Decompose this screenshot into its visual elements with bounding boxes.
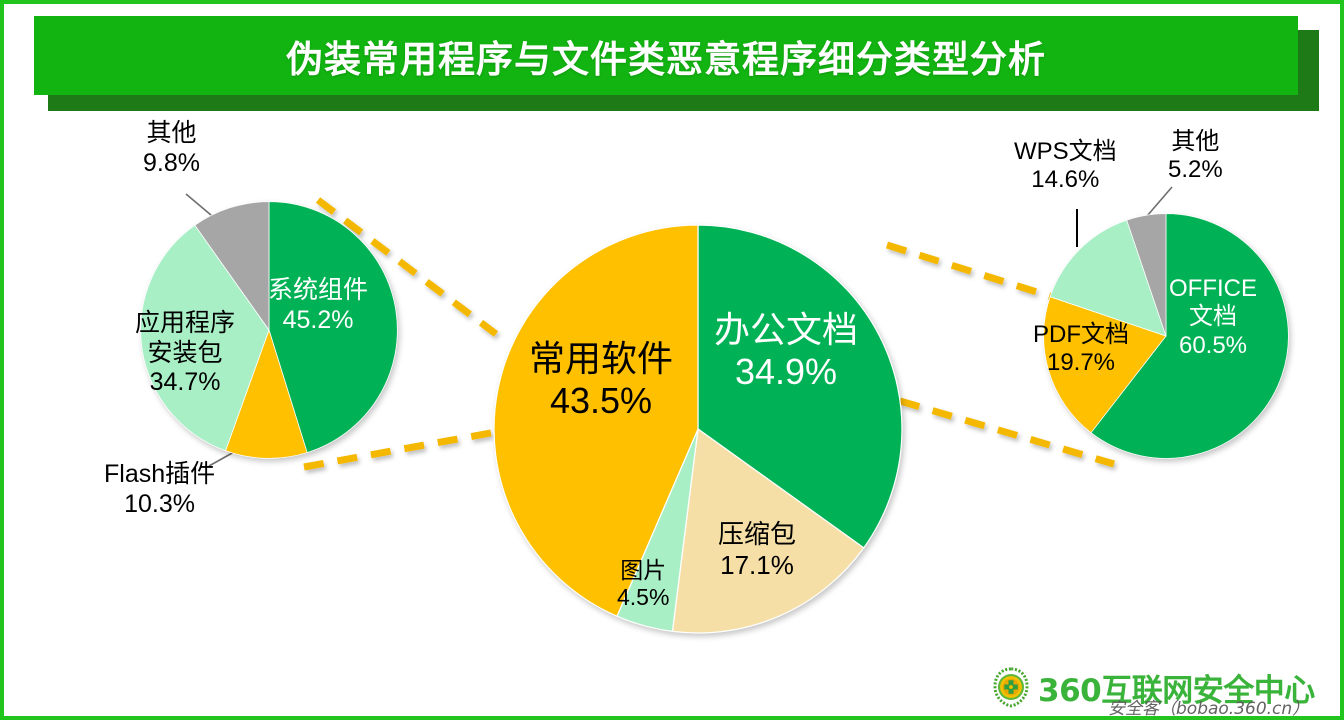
slice-value-office-doc: 34.9%	[714, 351, 858, 393]
leader-right-other	[1147, 187, 1172, 216]
slice-value-image: 4.5%	[617, 584, 669, 611]
title-banner-main: 伪装常用程序与文件类恶意程序细分类型分析	[34, 16, 1298, 95]
watermark-text: 安全客（bobao.360.cn）	[1108, 694, 1309, 719]
360-shield-laurel-icon	[990, 666, 1032, 708]
pie-center-svg	[493, 224, 903, 634]
slice-value-common-software: 43.5%	[529, 380, 673, 422]
slice-label-common-software: 常用软件 43.5%	[529, 338, 673, 423]
slice-value-right-other: 5.2%	[1168, 156, 1223, 184]
slice-label-office-file-line1: OFFICE	[1169, 275, 1257, 303]
slice-value-pdf-doc: 19.7%	[1033, 349, 1129, 377]
slice-label-common-software-name: 常用软件	[529, 338, 673, 380]
slice-label-office-doc-name: 办公文档	[714, 309, 858, 351]
page-title: 伪装常用程序与文件类恶意程序细分类型分析	[286, 29, 1046, 83]
slice-label-left-other-name: 其他	[143, 119, 200, 149]
slice-value-left-other: 9.8%	[143, 149, 200, 179]
slice-label-sys-component-name: 系统组件	[268, 276, 368, 306]
slice-label-app-package-line2: 安装包	[135, 339, 235, 369]
slice-label-flash-plugin: Flash插件 10.3%	[104, 460, 215, 519]
slice-label-wps-doc: WPS文档 14.6%	[1014, 138, 1117, 195]
slice-label-office-doc: 办公文档 34.9%	[714, 309, 858, 394]
slice-value-sys-component: 45.2%	[268, 306, 368, 336]
slice-value-archive: 17.1%	[718, 550, 796, 581]
slice-label-pdf-doc-name: PDF文档	[1033, 321, 1129, 349]
slice-label-right-other: 其他 5.2%	[1168, 128, 1223, 185]
slice-label-sys-component: 系统组件 45.2%	[268, 276, 368, 335]
slice-label-archive-name: 压缩包	[718, 519, 796, 550]
slice-label-flash-plugin-name: Flash插件	[104, 460, 215, 490]
title-banner: 伪装常用程序与文件类恶意程序细分类型分析	[34, 16, 1319, 111]
slice-value-wps-doc: 14.6%	[1014, 166, 1117, 194]
pie-chart-center[interactable]	[493, 224, 903, 634]
slice-label-left-other: 其他 9.8%	[143, 119, 200, 178]
slice-value-flash-plugin: 10.3%	[104, 490, 215, 520]
slice-label-pdf-doc: PDF文档 19.7%	[1033, 321, 1129, 378]
slice-label-app-package: 应用程序 安装包 34.7%	[135, 309, 235, 398]
slice-value-office-file: 60.5%	[1169, 332, 1257, 360]
slice-label-image-name: 图片	[617, 557, 669, 584]
slide-canvas: 伪装常用程序与文件类恶意程序细分类型分析 系统组件 45.2%	[0, 0, 1344, 720]
slice-label-office-file-line2: 文档	[1169, 303, 1257, 331]
pie-center-slices	[494, 225, 902, 633]
slice-label-app-package-line1: 应用程序	[135, 309, 235, 339]
slice-value-app-package: 34.7%	[135, 368, 235, 398]
slice-label-office-file: OFFICE 文档 60.5%	[1169, 275, 1257, 360]
slice-label-right-other-name: 其他	[1168, 128, 1223, 156]
slice-label-wps-doc-name: WPS文档	[1014, 138, 1117, 166]
slice-label-image: 图片 4.5%	[617, 557, 669, 611]
slice-label-archive: 压缩包 17.1%	[718, 519, 796, 580]
